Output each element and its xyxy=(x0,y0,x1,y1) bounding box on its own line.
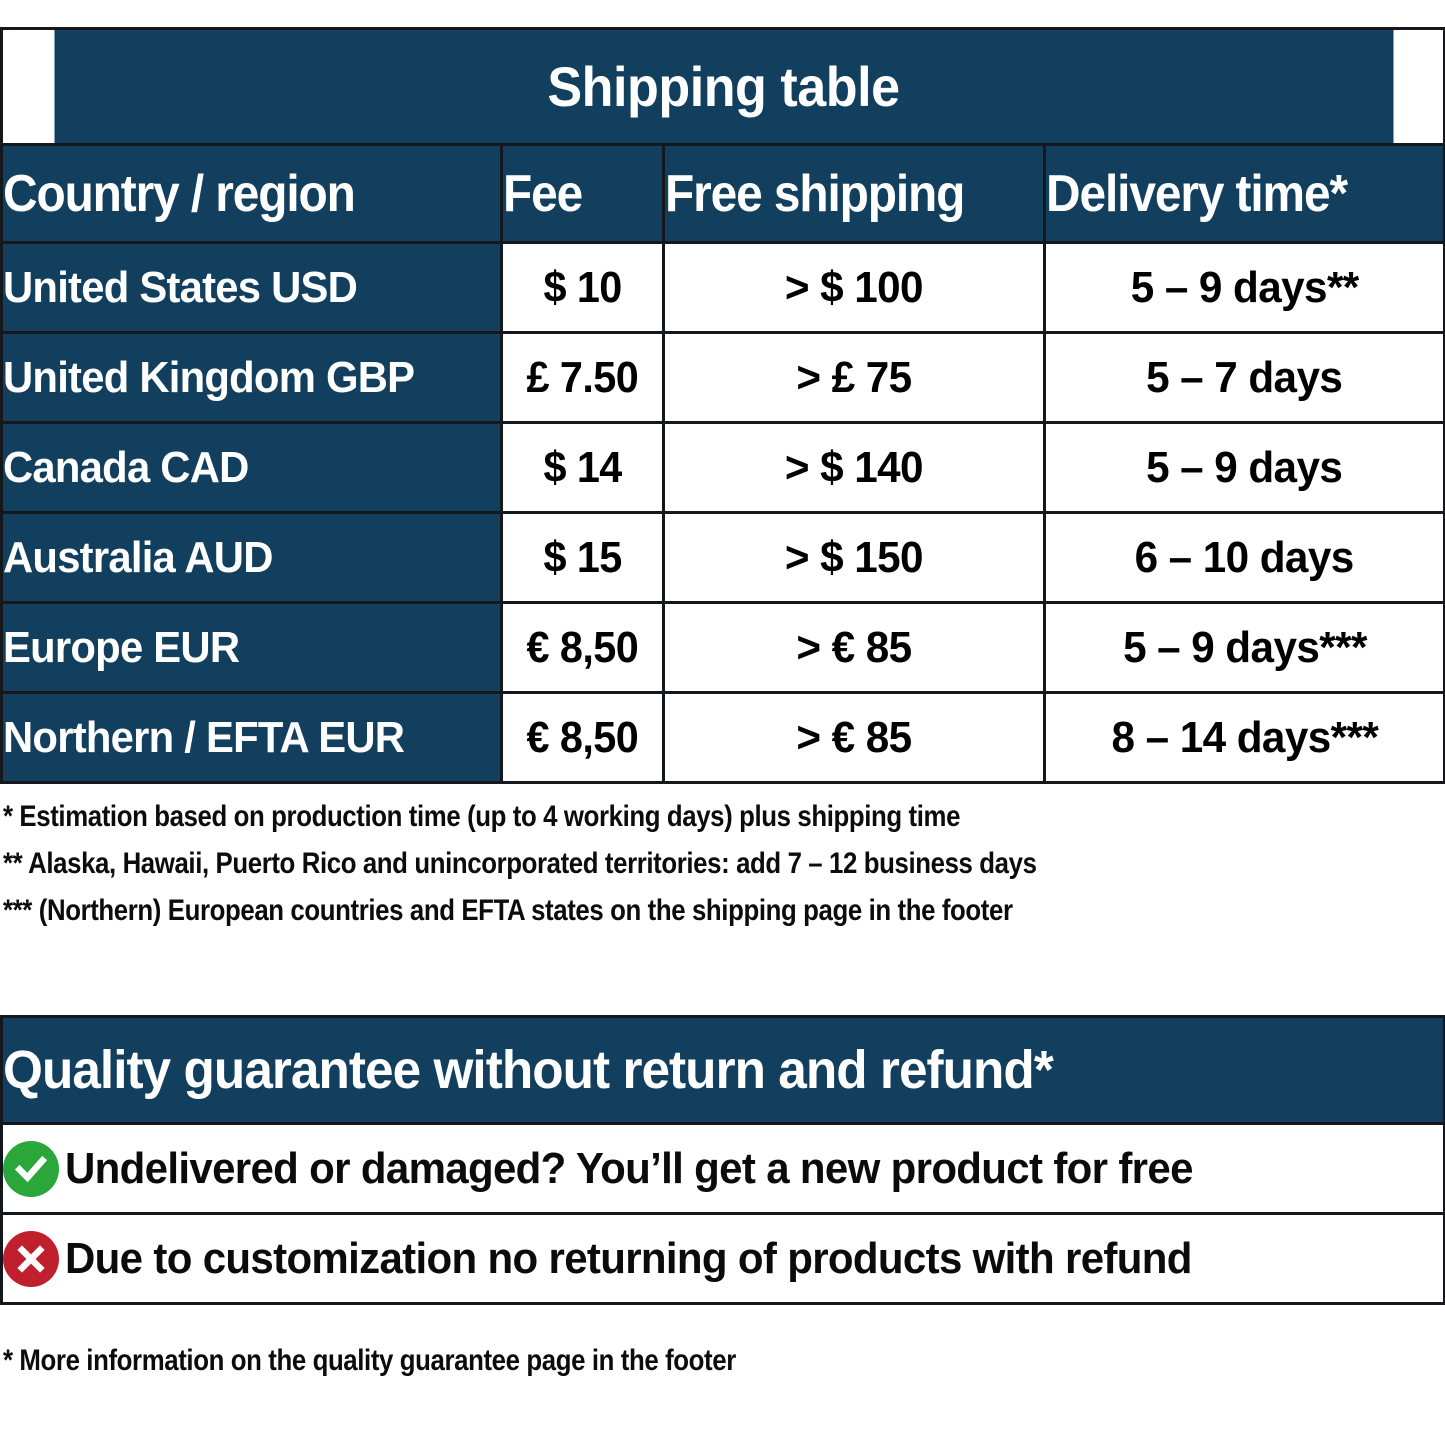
cell-fee-label: $ 10 xyxy=(543,263,621,313)
cell-country: United States USD xyxy=(2,243,502,333)
table-row: United Kingdom GBP £ 7.50 > £ 75 5 – 7 d… xyxy=(2,333,1445,423)
quality-guarantee-title-label: Quality guarantee without return and ref… xyxy=(3,1039,1053,1101)
cell-fee-label: € 8,50 xyxy=(527,713,639,763)
cell-free-shipping: > £ 75 xyxy=(664,333,1045,423)
cell-free-shipping: > $ 140 xyxy=(664,423,1045,513)
cell-delivery-time-label: 5 – 9 days** xyxy=(1131,263,1359,313)
shipping-table-title: Shipping table xyxy=(52,29,1394,145)
cell-fee-label: £ 7.50 xyxy=(527,353,639,403)
column-header-country-label: Country / region xyxy=(3,164,355,224)
column-header-fee: Fee xyxy=(502,145,664,243)
cell-free-shipping: > € 85 xyxy=(664,603,1045,693)
cell-free-shipping: > $ 100 xyxy=(664,243,1045,333)
quality-guarantee-container: Quality guarantee without return and ref… xyxy=(0,1015,1443,1305)
quality-guarantee-excluded-text: Due to customization no returning of pro… xyxy=(65,1234,1192,1284)
cell-country-label: Europe EUR xyxy=(3,623,239,673)
quality-footnote-1-text: * More information on the quality guaran… xyxy=(3,1337,736,1384)
cell-fee: $ 14 xyxy=(502,423,664,513)
cell-free-shipping-label: > $ 150 xyxy=(785,533,923,583)
shipping-table-container: Shipping table Country / region Fee Free… xyxy=(0,27,1443,784)
cell-delivery-time: 5 – 9 days xyxy=(1045,423,1445,513)
cell-country-label: Northern / EFTA EUR xyxy=(3,713,404,763)
table-row: Northern / EFTA EUR € 8,50 > € 85 8 – 14… xyxy=(2,693,1445,783)
cell-country: United Kingdom GBP xyxy=(2,333,502,423)
cell-free-shipping-label: > € 85 xyxy=(796,623,911,673)
table-row: Europe EUR € 8,50 > € 85 5 – 9 days*** xyxy=(2,603,1445,693)
cell-fee: € 8,50 xyxy=(502,693,664,783)
cell-free-shipping-label: > $ 100 xyxy=(785,263,923,313)
cell-delivery-time: 6 – 10 days xyxy=(1045,513,1445,603)
quality-guarantee-included-text: Undelivered or damaged? You’ll get a new… xyxy=(65,1144,1193,1194)
cell-fee-label: $ 15 xyxy=(543,533,621,583)
table-row: United States USD $ 10 > $ 100 5 – 9 day… xyxy=(2,243,1445,333)
quality-guarantee-row-excluded: Due to customization no returning of pro… xyxy=(2,1214,1445,1304)
cell-delivery-time: 5 – 9 days*** xyxy=(1045,603,1445,693)
cell-country-label: Canada CAD xyxy=(3,443,249,493)
cell-delivery-time-label: 5 – 7 days xyxy=(1146,353,1342,403)
cell-country-label: United States USD xyxy=(3,263,357,313)
cell-country: Europe EUR xyxy=(2,603,502,693)
shipping-footnote-2: ** Alaska, Hawaii, Puerto Rico and uninc… xyxy=(3,840,1443,887)
shipping-footnote-1: * Estimation based on production time (u… xyxy=(3,793,1443,840)
cell-free-shipping-label: > $ 140 xyxy=(785,443,923,493)
shipping-footnote-1-text: * Estimation based on production time (u… xyxy=(3,793,960,840)
cell-fee-label: $ 14 xyxy=(543,443,621,493)
cell-free-shipping: > $ 150 xyxy=(664,513,1045,603)
shipping-table-header-row: Country / region Fee Free shipping Deliv… xyxy=(2,145,1445,243)
cell-fee: £ 7.50 xyxy=(502,333,664,423)
cell-country-label: Australia AUD xyxy=(3,533,273,583)
column-header-free-shipping: Free shipping xyxy=(664,145,1045,243)
column-header-delivery-time-label: Delivery time* xyxy=(1046,164,1347,224)
cell-free-shipping-label: > £ 75 xyxy=(796,353,911,403)
shipping-footnotes: * Estimation based on production time (u… xyxy=(3,793,1443,934)
cell-delivery-time-label: 8 – 14 days*** xyxy=(1111,713,1378,763)
cell-delivery-time: 5 – 7 days xyxy=(1045,333,1445,423)
quality-guarantee-title-row: Quality guarantee without return and ref… xyxy=(2,1017,1445,1124)
list-item: Undelivered or damaged? You’ll get a new… xyxy=(2,1124,1445,1214)
cell-delivery-time: 5 – 9 days** xyxy=(1045,243,1445,333)
cell-fee: $ 10 xyxy=(502,243,664,333)
cell-fee: $ 15 xyxy=(502,513,664,603)
table-row: Canada CAD $ 14 > $ 140 5 – 9 days xyxy=(2,423,1445,513)
cell-fee: € 8,50 xyxy=(502,603,664,693)
column-header-fee-label: Fee xyxy=(503,164,582,224)
quality-guarantee-footnotes: * More information on the quality guaran… xyxy=(3,1337,1443,1384)
cell-country-label: United Kingdom GBP xyxy=(3,353,414,403)
cell-delivery-time-label: 6 – 10 days xyxy=(1135,533,1354,583)
quality-footnote-1: * More information on the quality guaran… xyxy=(3,1337,1443,1384)
cell-fee-label: € 8,50 xyxy=(527,623,639,673)
cell-country: Australia AUD xyxy=(2,513,502,603)
cell-delivery-time-label: 5 – 9 days*** xyxy=(1123,623,1367,673)
cell-delivery-time: 8 – 14 days*** xyxy=(1045,693,1445,783)
shipping-footnote-3: *** (Northern) European countries and EF… xyxy=(3,887,1443,934)
cell-free-shipping: > € 85 xyxy=(664,693,1045,783)
shipping-table-title-row: Shipping table xyxy=(2,29,1445,145)
check-circle-icon xyxy=(3,1141,59,1197)
cell-country: Canada CAD xyxy=(2,423,502,513)
column-header-country: Country / region xyxy=(2,145,502,243)
cross-circle-icon xyxy=(3,1231,59,1287)
cell-delivery-time-label: 5 – 9 days xyxy=(1146,443,1342,493)
list-item: Due to customization no returning of pro… xyxy=(2,1214,1445,1304)
quality-guarantee-table: Quality guarantee without return and ref… xyxy=(0,1015,1445,1305)
cell-country: Northern / EFTA EUR xyxy=(2,693,502,783)
shipping-footnote-3-text: *** (Northern) European countries and EF… xyxy=(3,887,1013,934)
shipping-info-page: Shipping table Country / region Fee Free… xyxy=(0,0,1445,1445)
quality-guarantee-title: Quality guarantee without return and ref… xyxy=(2,1017,1445,1124)
column-header-delivery-time: Delivery time* xyxy=(1045,145,1445,243)
shipping-table: Shipping table Country / region Fee Free… xyxy=(0,27,1445,784)
table-row: Australia AUD $ 15 > $ 150 6 – 10 days xyxy=(2,513,1445,603)
cell-free-shipping-label: > € 85 xyxy=(796,713,911,763)
column-header-free-shipping-label: Free shipping xyxy=(665,164,964,224)
quality-guarantee-row-included: Undelivered or damaged? You’ll get a new… xyxy=(2,1124,1445,1214)
shipping-footnote-2-text: ** Alaska, Hawaii, Puerto Rico and uninc… xyxy=(3,840,1037,887)
